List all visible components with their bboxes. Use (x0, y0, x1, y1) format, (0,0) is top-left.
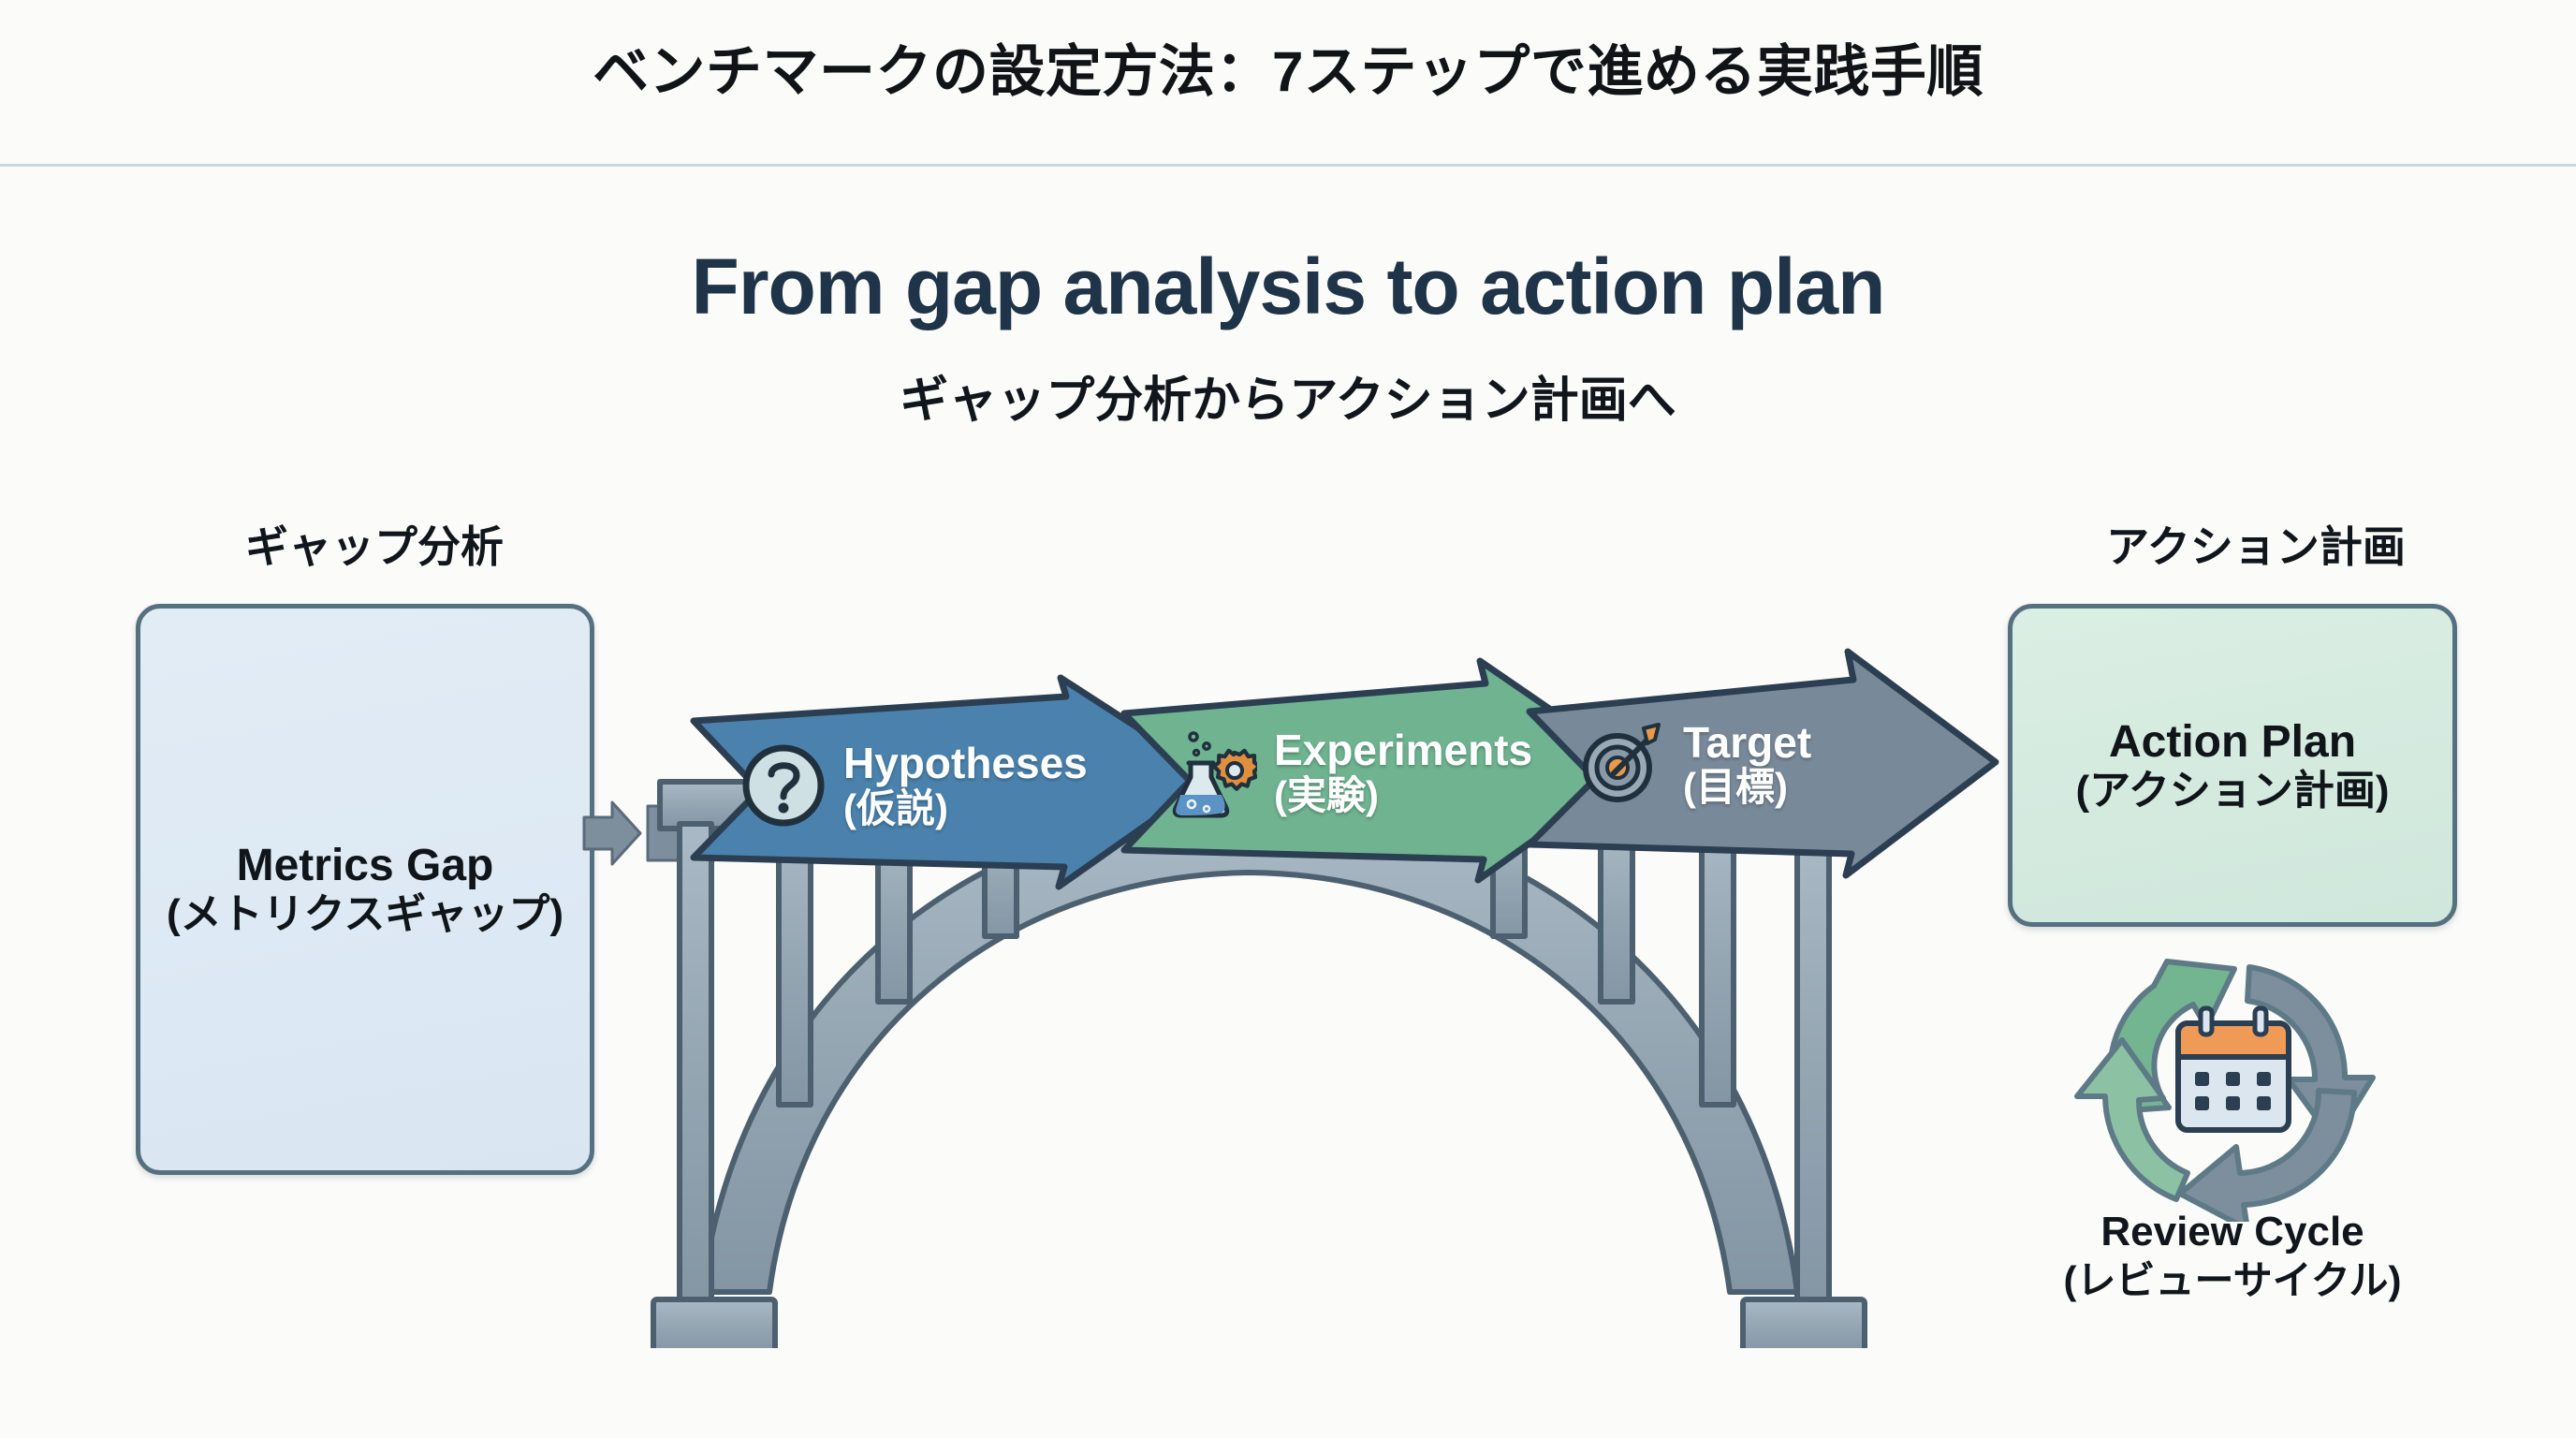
step-label-en: Target (1683, 719, 1811, 767)
right-section-label: アクション計画 (1994, 513, 2518, 575)
metrics-gap-title-ja: (メトリクスギャップ) (167, 891, 563, 937)
question-mark-icon (740, 742, 827, 829)
target-bullseye-icon (1576, 719, 1666, 809)
step-label-target: Target (目標) (1683, 719, 1811, 810)
step-label-ja: (仮説) (843, 787, 1088, 830)
action-plan-box[interactable]: Action Plan (アクション計画) (2008, 604, 2457, 927)
review-cycle-title-ja: (レビューサイクル) (1989, 1257, 2476, 1304)
metrics-gap-title-en: Metrics Gap (237, 841, 494, 891)
calendar-icon (2178, 1008, 2289, 1130)
review-cycle-title-en: Review Cycle (2100, 1209, 2364, 1255)
step-label-ja: (実験) (1274, 774, 1532, 817)
step-label-en: Experiments (1274, 726, 1532, 774)
page-title: From gap analysis to action plan (0, 242, 2576, 332)
flask-gear-icon (1171, 726, 1257, 819)
step-chevron-target[interactable]: Target (目標) (1524, 646, 2001, 880)
step-label-en: Hypotheses (843, 740, 1088, 787)
step-label-experiments: Experiments (実験) (1274, 726, 1532, 817)
review-cycle-diagram[interactable] (2064, 913, 2401, 1222)
header-title: ベンチマークの設定方法：7ステップで進める実践手順 (0, 26, 2576, 108)
metrics-gap-box[interactable]: Metrics Gap (メトリクスギャップ) (136, 604, 594, 1175)
slide-canvas: ベンチマークの設定方法：7ステップで進める実践手順 From gap analy… (0, 0, 2576, 1438)
step-label-ja: (目標) (1683, 766, 1811, 809)
header-divider (0, 164, 2576, 167)
action-plan-title-en: Action Plan (2109, 717, 2356, 768)
review-cycle-label: Review Cycle (レビューサイクル) (1989, 1208, 2476, 1304)
action-plan-title-ja: (アクション計画) (2075, 768, 2389, 814)
left-section-label: ギャップ分析 (112, 513, 637, 575)
step-label-hypotheses: Hypotheses (仮説) (843, 740, 1088, 830)
page-subtitle: ギャップ分析からアクション計画へ (0, 360, 2576, 431)
